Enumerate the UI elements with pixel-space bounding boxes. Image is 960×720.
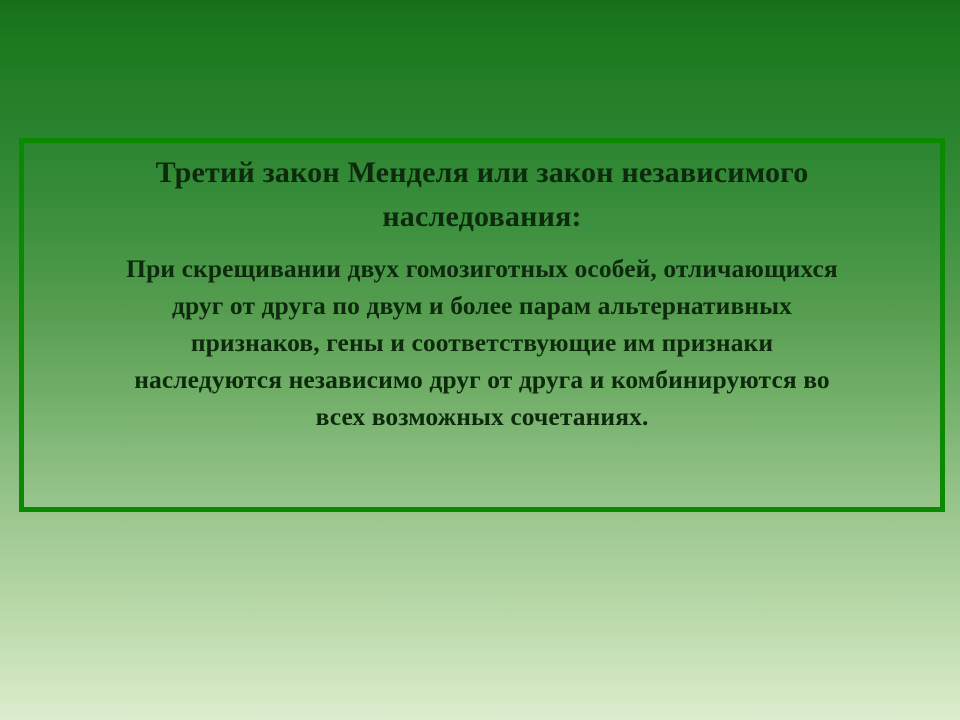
title-line-1: Третий закон Менделя или закон независим… [50, 151, 914, 195]
body-line-1: При скрещивании двух гомозиготных особей… [38, 250, 926, 287]
content-box: Третий закон Менделя или закон независим… [19, 138, 945, 512]
body-line-4: наследуются независимо друг от друга и к… [38, 361, 926, 398]
body-line-2: друг от друга по двум и более парам альт… [38, 287, 926, 324]
presentation-slide: Третий закон Менделя или закон независим… [0, 0, 960, 720]
title-line-2: наследования: [50, 195, 914, 239]
slide-body: При скрещивании двух гомозиготных особей… [24, 250, 940, 435]
body-line-5: всех возможных сочетаниях. [38, 398, 926, 435]
slide-title: Третий закон Менделя или закон независим… [24, 151, 940, 239]
body-line-3: признаков, гены и соответствующие им при… [38, 324, 926, 361]
